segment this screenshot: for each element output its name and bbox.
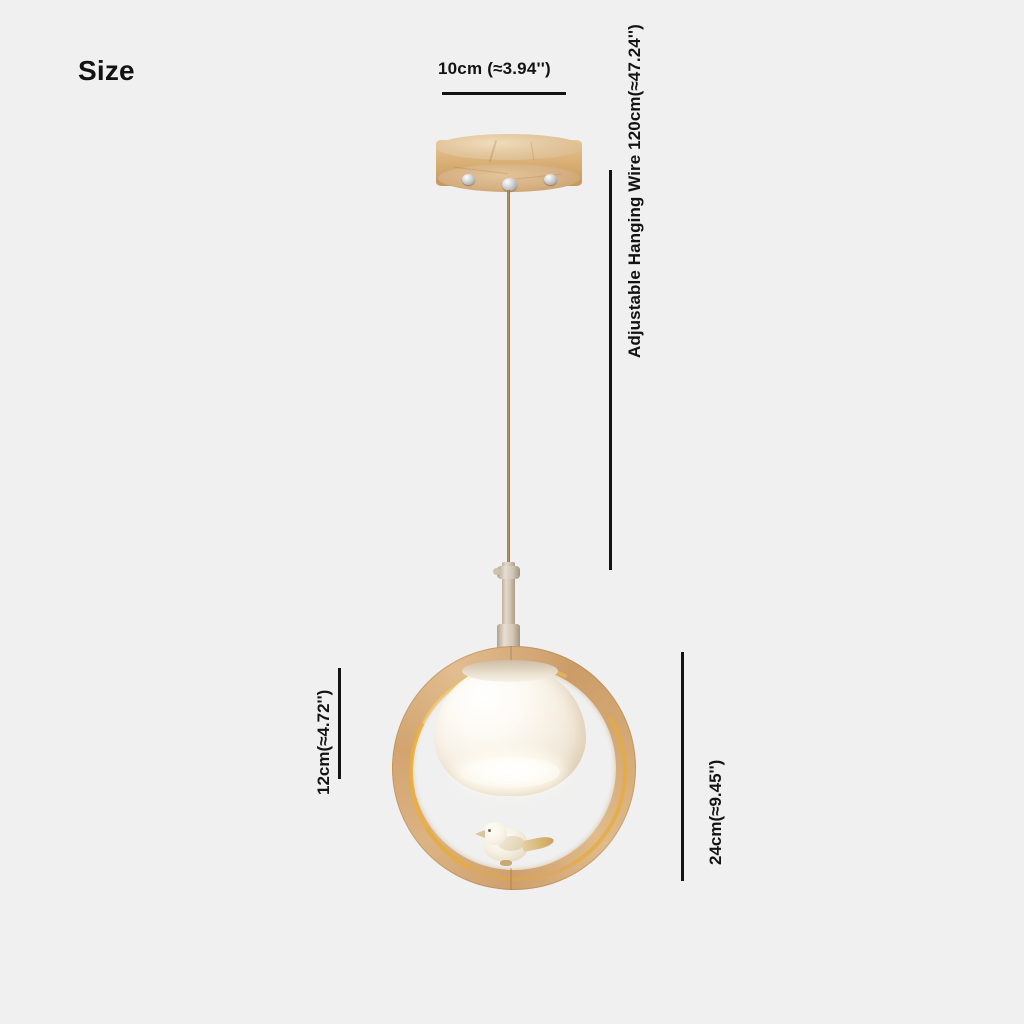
canopy-screw-right — [544, 174, 557, 185]
lamp-stem-nub — [493, 568, 500, 575]
canopy-top-face — [436, 134, 582, 160]
canopy-screw-left — [462, 174, 475, 185]
dimension-rule-fixture-height — [681, 652, 684, 881]
hanging-cord — [507, 190, 510, 565]
dimension-rule-canopy-width — [442, 92, 566, 95]
dimension-label-hanging-wire: Adjustable Hanging Wire 120cm(≈47.24'') — [625, 24, 645, 358]
shade-light-opening — [460, 756, 560, 788]
bird-figurine — [474, 816, 554, 872]
bird-beak — [475, 830, 485, 838]
dimension-label-canopy-width: 10cm (≈3.94'') — [438, 59, 551, 79]
bird-head — [482, 822, 507, 845]
lamp-stem-collar — [497, 566, 520, 579]
dimension-rule-hanging-wire — [609, 170, 612, 570]
ceiling-canopy — [436, 134, 582, 196]
bird-eye — [488, 829, 491, 832]
shade-top-collar — [462, 660, 558, 682]
dimension-rule-shade-height — [338, 668, 341, 779]
glass-globe-shade — [434, 664, 586, 796]
page-title: Size — [78, 55, 135, 87]
size-diagram: Size 10cm (≈3.94'') Adjustable Hanging W… — [0, 0, 1024, 1024]
bird-foot — [500, 860, 512, 866]
dimension-label-fixture-height: 24cm(≈9.45'') — [706, 760, 726, 865]
dimension-label-shade-height: 12cm(≈4.72'') — [314, 690, 334, 795]
